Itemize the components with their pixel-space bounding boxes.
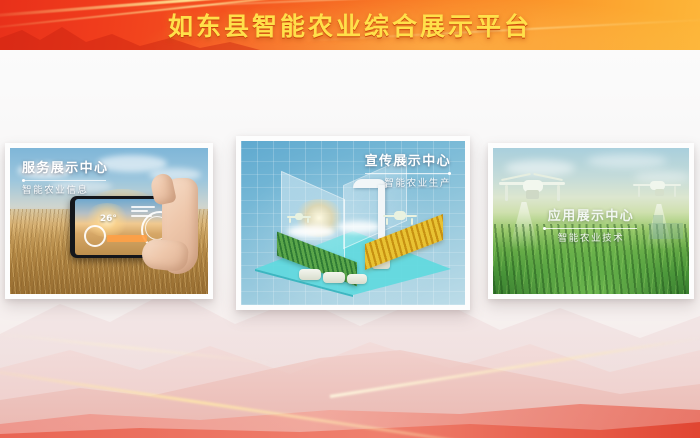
card-application-subtitle: 智能农业技术 [545,234,637,244]
caption-divider [545,228,637,229]
caption-divider [365,173,451,174]
card-application-title: 应用展示中心 [545,210,637,223]
hud-bar [131,206,155,208]
card-promotion-display-center[interactable]: 宣传展示中心 智能农业生产 [236,136,470,310]
hay-roll [299,269,321,280]
hay-roll [347,274,367,284]
card-service-display-center[interactable]: 26° 服务展示中心 智能农业信息 [5,143,213,299]
hud-info-chip [107,235,147,242]
hud-temperature: 26° [100,214,117,224]
page-title: 如东县智能农业综合展示平台 [0,0,700,50]
card-promotion-caption: 宣传展示中心 智能农业生产 [365,155,451,189]
card-promotion-title: 宣传展示中心 [365,155,451,168]
hay-roll [323,272,345,283]
card-application-image: 应用展示中心 智能农业技术 [493,148,689,294]
card-promotion-subtitle: 智能农业生产 [365,179,451,189]
drone-icon [499,174,565,204]
cloud-shape [337,221,381,233]
card-promotion-image: 宣传展示中心 智能农业生产 [241,141,465,305]
platform-showcase-screen: 如东县智能农业综合展示平台 [0,0,700,438]
card-application-caption: 应用展示中心 智能农业技术 [545,210,637,244]
card-service-subtitle: 智能农业信息 [22,186,108,196]
hud-bar [131,210,148,212]
drone-icon [633,178,681,200]
card-application-display-center[interactable]: 应用展示中心 智能农业技术 [488,143,694,299]
horizon-glow [0,318,700,438]
hud-bar [131,215,152,217]
city-skyline [653,215,663,239]
caption-divider [22,180,106,181]
header-banner: 如东县智能农业综合展示平台 [0,0,700,50]
card-service-title: 服务展示中心 [22,162,108,175]
drone-icon [287,213,311,223]
cloud-shape [587,154,667,168]
cloud-shape [287,225,335,238]
card-service-caption: 服务展示中心 智能农业信息 [22,162,108,196]
hud-gauge-ring [84,225,106,247]
card-service-image: 26° 服务展示中心 智能农业信息 [10,148,208,294]
drone-icon [383,211,417,225]
